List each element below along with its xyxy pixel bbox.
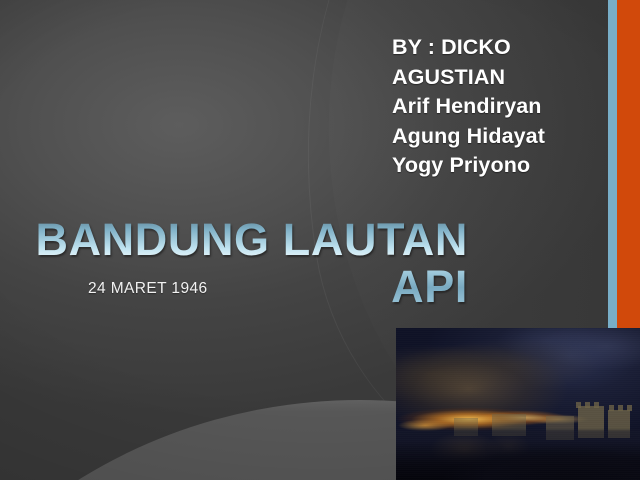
authors-block: BY : DICKO AGUSTIAN Arif Hendiryan Agung…	[392, 33, 622, 181]
image-grain-layer	[396, 328, 640, 480]
author-line-1: BY : DICKO	[392, 33, 622, 63]
presentation-slide: BY : DICKO AGUSTIAN Arif Hendiryan Agung…	[0, 0, 640, 480]
author-line-4: Agung Hidayat	[392, 122, 622, 152]
slide-title: BANDUNG LAUTAN API	[16, 216, 468, 310]
slide-subtitle-date: 24 MARET 1946	[88, 280, 208, 298]
burning-city-image	[396, 328, 640, 480]
title-line-2: API	[16, 263, 468, 310]
author-line-5: Yogy Priyono	[392, 151, 622, 181]
title-line-1: BANDUNG LAUTAN	[16, 216, 468, 263]
author-line-3: Arif Hendiryan	[392, 92, 622, 122]
author-line-2: AGUSTIAN	[392, 63, 622, 93]
